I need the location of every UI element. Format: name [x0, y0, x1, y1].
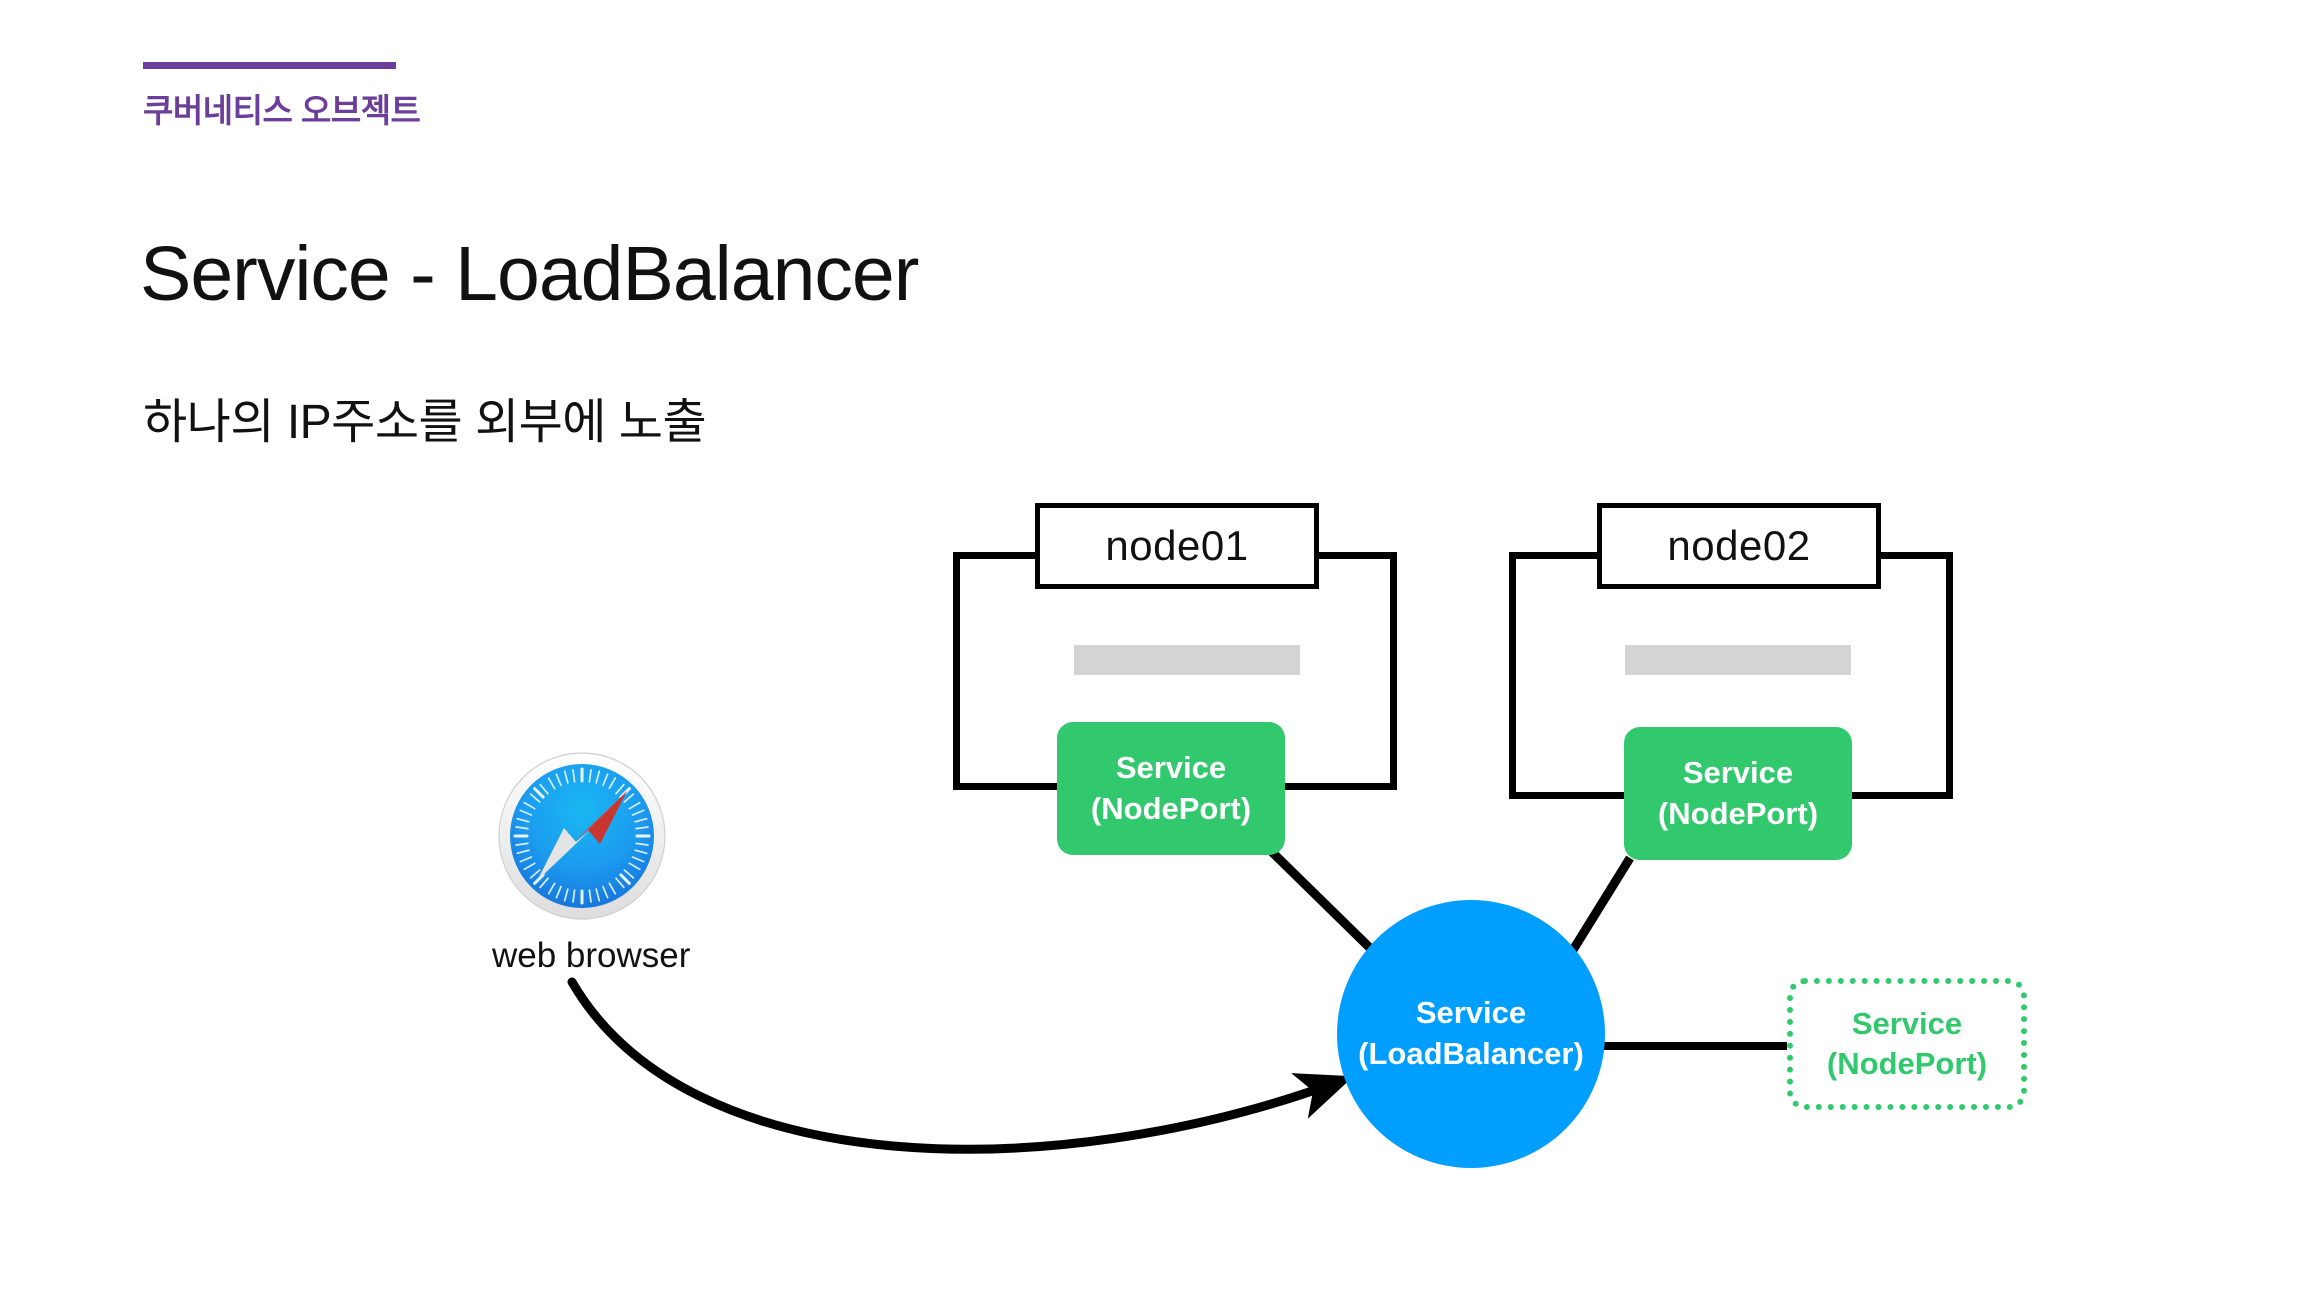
node02-service-line2: (NodePort) — [1658, 794, 1818, 834]
safari-compass-icon — [496, 750, 668, 922]
node02-pod-placeholder — [1625, 645, 1851, 675]
node01-service-line2: (NodePort) — [1091, 789, 1251, 829]
service-loadbalancer-node[interactable]: Service (LoadBalancer) — [1337, 900, 1605, 1168]
loadbalancer-line1: Service — [1416, 993, 1526, 1034]
slide-canvas: 쿠버네티스 오브젝트 Service - LoadBalancer 하나의 IP… — [0, 0, 2304, 1296]
external-service-nodeport[interactable]: Service (NodePort) — [1787, 978, 2027, 1110]
node01-name: node01 — [1105, 522, 1248, 570]
edge-browser-to-loadbalancer — [572, 982, 1335, 1149]
web-browser-label: web browser — [492, 936, 672, 976]
node02-label-box: node02 — [1597, 503, 1881, 589]
node01-pod-placeholder — [1074, 645, 1300, 675]
node01-service-nodeport[interactable]: Service (NodePort) — [1057, 722, 1285, 855]
node02-service-nodeport[interactable]: Service (NodePort) — [1624, 727, 1852, 860]
node02-service-line1: Service — [1683, 753, 1793, 793]
node02-name: node02 — [1667, 522, 1810, 570]
external-service-line1: Service — [1852, 1004, 1962, 1044]
web-browser-group[interactable]: web browser — [492, 750, 672, 976]
edge-node01-to-loadbalancer — [1272, 852, 1370, 948]
edge-node02-to-loadbalancer — [1573, 858, 1630, 950]
external-service-line2: (NodePort) — [1827, 1044, 1987, 1084]
node01-label-box: node01 — [1035, 503, 1319, 589]
architecture-diagram: node01 Service (NodePort) node02 Service… — [0, 0, 2304, 1296]
loadbalancer-line2: (LoadBalancer) — [1358, 1034, 1584, 1075]
node01-service-line1: Service — [1116, 748, 1226, 788]
